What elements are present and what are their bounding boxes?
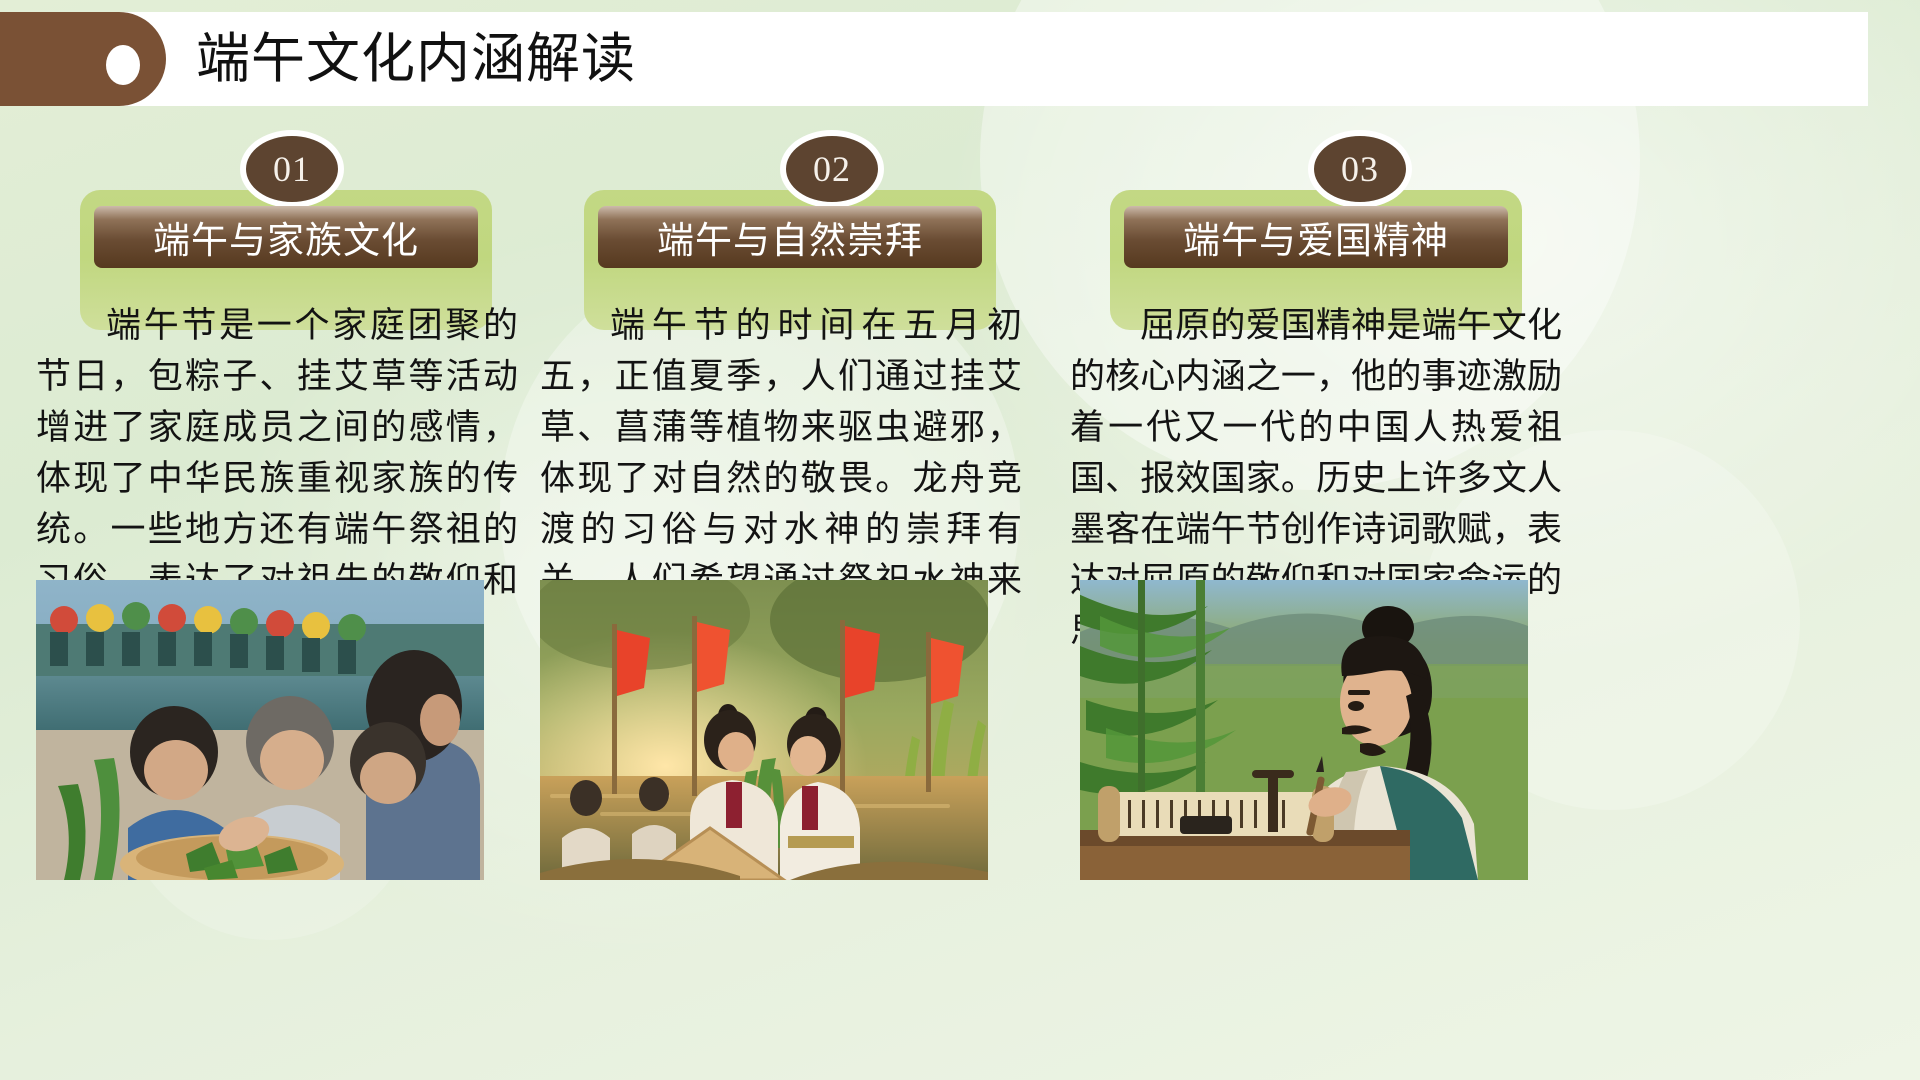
content-column-2: 02 端午与自然崇拜 端午节的时间在五月初五，正值夏季，人们通过挂艾草、菖蒲等植… [522,128,1038,873]
section-title-bar-3: 端午与爱国精神 [1124,206,1508,268]
dragon-boat-ritual-illustration [540,580,988,880]
header-tab [0,12,166,106]
section-title-label: 端午与家族文化 [153,210,419,264]
slide-canvas: 端午文化内涵解读 01 端午与家族文化 端午节是一个家庭团聚的节日，包粽子、挂艾… [0,0,1920,1080]
section-title-label: 端午与自然崇拜 [657,210,923,264]
step-badge-01: 01 [240,130,344,208]
step-badge-number: 01 [273,151,311,187]
section-photo-2 [540,580,988,880]
section-title-label: 端午与爱国精神 [1183,210,1449,264]
slide-header: 端午文化内涵解读 [0,12,1868,106]
section-photo-3 [1080,580,1528,880]
section-title-bar-2: 端午与自然崇拜 [598,206,982,268]
step-badge-number: 02 [813,151,851,187]
step-badge-number: 03 [1341,151,1379,187]
zongzi-photo-illustration [36,580,484,880]
content-column-3: 03 端午与爱国精神 屈原的爱国精神是端午文化的核心内涵之一，他的事迹激励着一代… [1062,128,1578,873]
step-badge-03: 03 [1308,130,1412,208]
content-column-1: 01 端午与家族文化 端午节是一个家庭团聚的节日，包粽子、挂艾草等活动增进了家庭… [18,128,534,873]
section-title-bar-1: 端午与家族文化 [94,206,478,268]
step-badge-02: 02 [780,130,884,208]
qu-yuan-writing-illustration [1080,580,1528,880]
section-photo-1 [36,580,484,880]
page-title: 端午文化内涵解读 [196,22,636,96]
header-dot-icon [106,45,140,85]
